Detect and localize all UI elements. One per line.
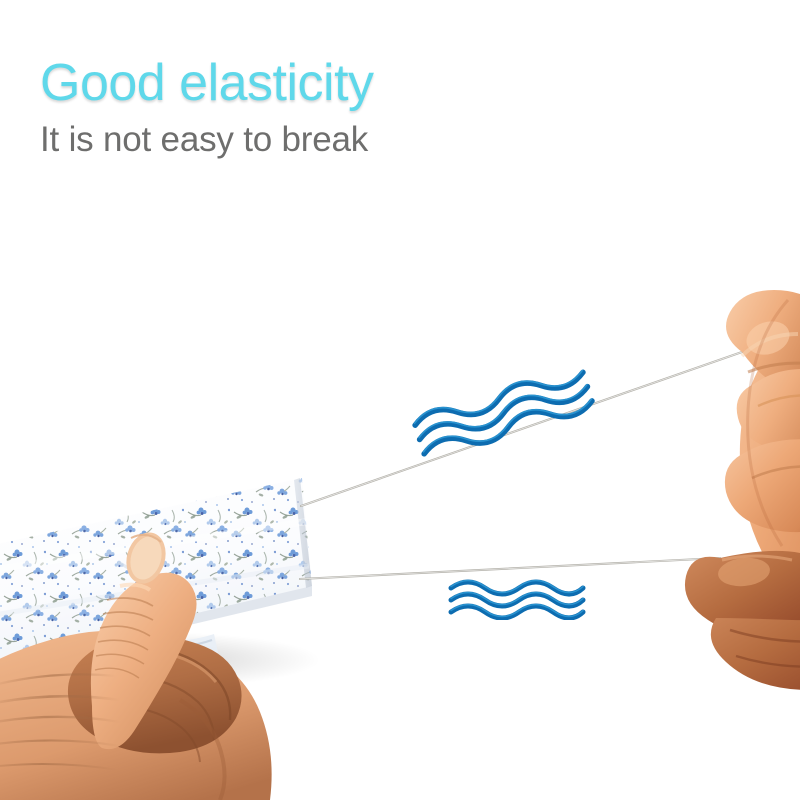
product-image-canvas: Good elasticity It is not easy to break (0, 0, 800, 800)
stretch-wave-lower-icon (446, 576, 588, 620)
headline-text: Good elasticity (40, 57, 374, 109)
right-hand-pinching-straps (685, 290, 800, 690)
subheadline-text: It is not easy to break (40, 122, 368, 157)
